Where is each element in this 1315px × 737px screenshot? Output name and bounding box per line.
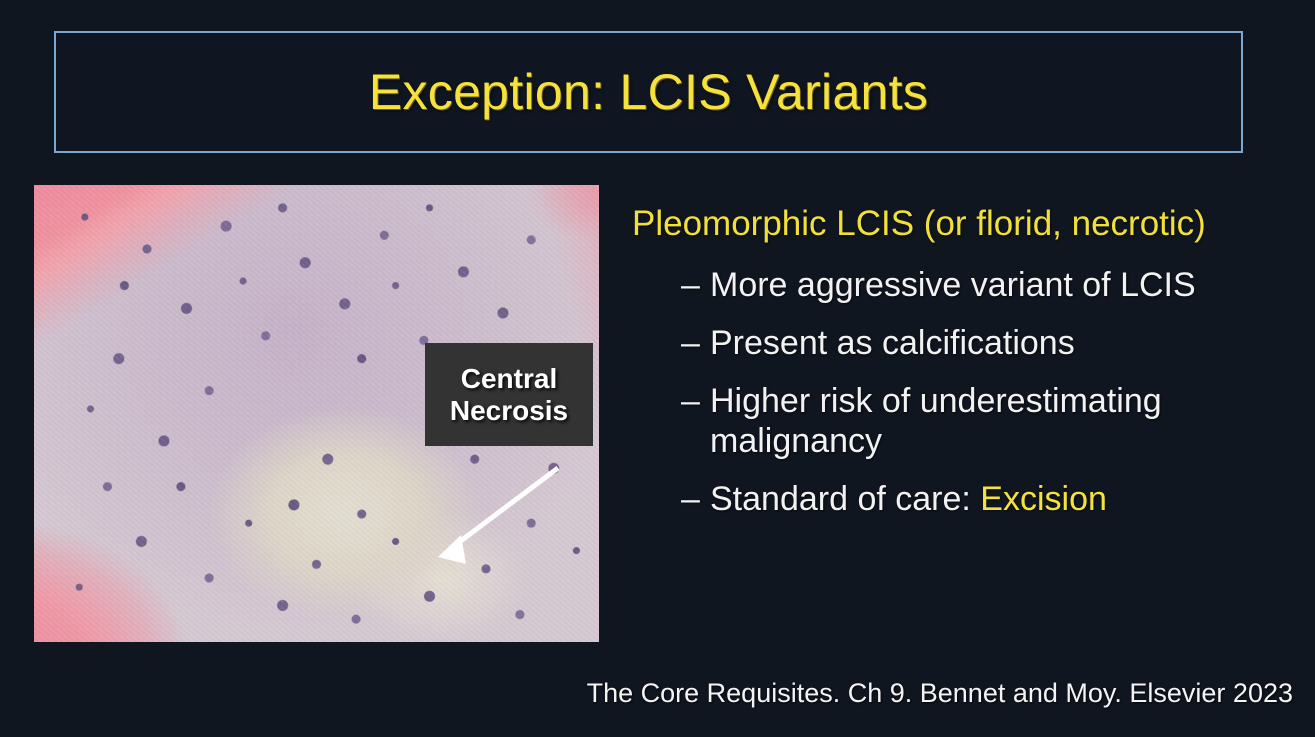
caption-line-2: Necrosis	[450, 395, 568, 426]
bullet-dash: –	[681, 479, 710, 520]
list-item-label: More aggressive variant of LCIS	[710, 265, 1292, 306]
list-item: – Higher risk of underestimating maligna…	[681, 381, 1292, 463]
list-item: – Standard of care: Excision	[681, 479, 1292, 520]
bullet-dash: –	[681, 265, 710, 306]
list-item-label: Standard of care: Excision	[710, 479, 1292, 520]
citation-footer: The Core Requisites. Ch 9. Bennet and Mo…	[0, 678, 1293, 709]
bullet-dash: –	[681, 323, 710, 364]
content-column: Pleomorphic LCIS (or florid, necrotic) –…	[632, 206, 1292, 537]
title-box: Exception: LCIS Variants	[54, 31, 1243, 153]
slide-canvas: Exception: LCIS Variants Central Necrosi…	[0, 0, 1315, 737]
list-item-label: Higher risk of underestimating malignanc…	[710, 381, 1292, 463]
list-item-label: Present as calcifications	[710, 323, 1292, 364]
list-item: – More aggressive variant of LCIS	[681, 265, 1292, 306]
central-necrosis-label: Central Necrosis	[425, 343, 593, 446]
list-item-highlight: Excision	[980, 480, 1107, 518]
caption-line-1: Central	[461, 363, 557, 394]
list-item-text: Standard of care:	[710, 480, 980, 518]
content-heading: Pleomorphic LCIS (or florid, necrotic)	[632, 206, 1292, 241]
bullet-dash: –	[681, 381, 710, 422]
list-item: – Present as calcifications	[681, 323, 1292, 364]
page-title: Exception: LCIS Variants	[369, 63, 928, 121]
